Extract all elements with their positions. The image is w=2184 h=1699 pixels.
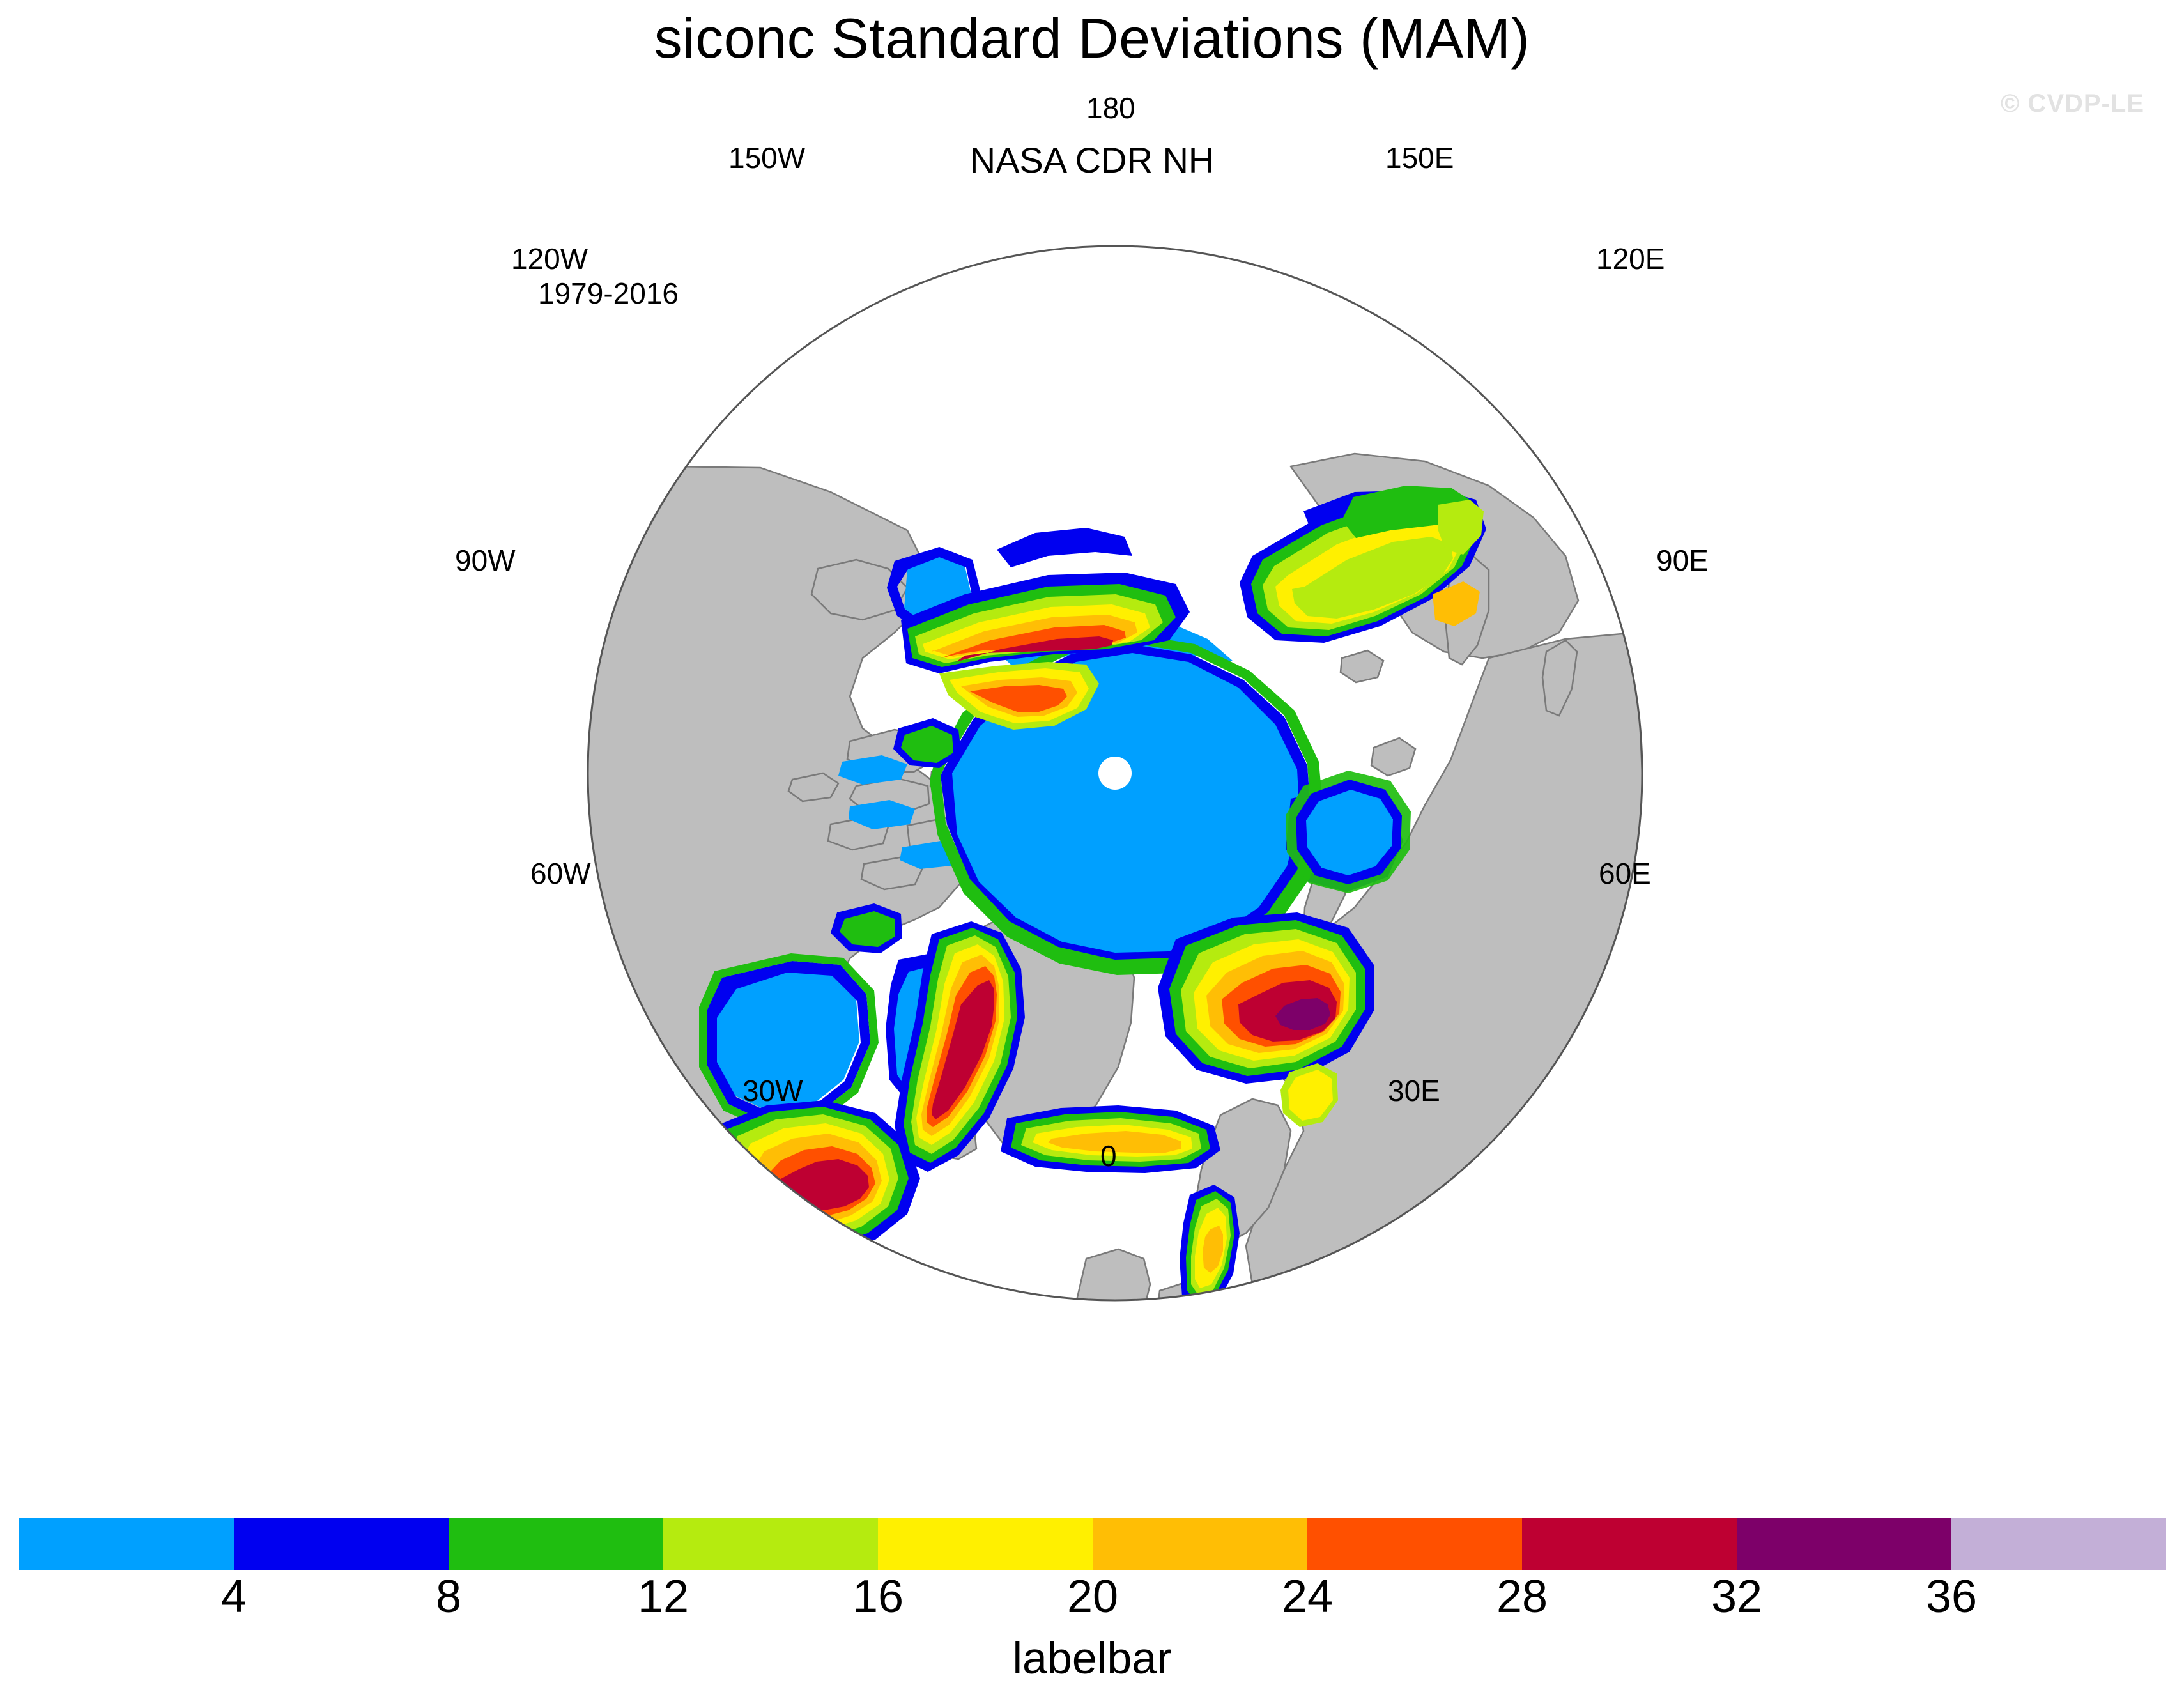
sic-field-labrador xyxy=(679,1100,920,1333)
colorbar-tick: 36 xyxy=(1926,1574,1977,1620)
lon-label-120W: 120W xyxy=(511,242,588,276)
dataset-subtitle: NASA CDR NH xyxy=(0,139,2184,181)
colorbar-swatches[interactable] xyxy=(19,1518,2166,1570)
lon-label-30E: 30E xyxy=(1388,1073,1440,1108)
lon-label-30W: 30W xyxy=(742,1073,803,1108)
colorbar-tick: 16 xyxy=(852,1574,904,1620)
polar-map: 180 150W 120W 90W 60W 30W 0 30E 60E 90E … xyxy=(0,211,2184,1335)
lon-label-60W: 60W xyxy=(530,856,591,891)
page-title: siconc Standard Deviations (MAM) xyxy=(0,9,2184,68)
colorbar-tick: 8 xyxy=(436,1574,461,1620)
lon-label-90E: 90E xyxy=(1656,543,1709,578)
colorbar-segment xyxy=(1307,1518,1522,1570)
lon-label-0: 0 xyxy=(1100,1139,1117,1173)
lon-label-60E: 60E xyxy=(1599,856,1651,891)
colorbar-segment xyxy=(234,1518,449,1570)
colorbar-segment xyxy=(1522,1518,1737,1570)
lon-label-90W: 90W xyxy=(455,543,516,578)
colorbar-title: labelbar xyxy=(0,1633,2184,1684)
pole-hole xyxy=(1098,757,1132,790)
colorbar-segment xyxy=(1951,1518,2166,1570)
lon-label-180: 180 xyxy=(1086,91,1135,125)
figure-canvas: siconc Standard Deviations (MAM) © CVDP-… xyxy=(0,0,2184,1699)
colorbar-segment xyxy=(449,1518,663,1570)
sic-field-baltic xyxy=(1180,1185,1240,1335)
colorbar-tick: 32 xyxy=(1711,1574,1762,1620)
colorbar-segment xyxy=(19,1518,234,1570)
colorbar-segment xyxy=(1093,1518,1307,1570)
colorbar-segment xyxy=(1737,1518,1951,1570)
colorbar-tick: 12 xyxy=(638,1574,689,1620)
colorbar-segment xyxy=(663,1518,878,1570)
lon-label-120E: 120E xyxy=(1596,242,1665,276)
lon-label-150E: 150E xyxy=(1385,141,1454,175)
colorbar-tick: 4 xyxy=(221,1574,247,1620)
colorbar-tick: 28 xyxy=(1496,1574,1548,1620)
copyright-label: © CVDP-LE xyxy=(2001,89,2144,118)
colorbar-tick: 24 xyxy=(1282,1574,1333,1620)
colorbar-tick: 20 xyxy=(1067,1574,1118,1620)
colorbar-tick-labels: 4812162024283236 xyxy=(19,1574,2166,1635)
lon-label-150W: 150W xyxy=(728,141,805,175)
colorbar-segment xyxy=(878,1518,1093,1570)
